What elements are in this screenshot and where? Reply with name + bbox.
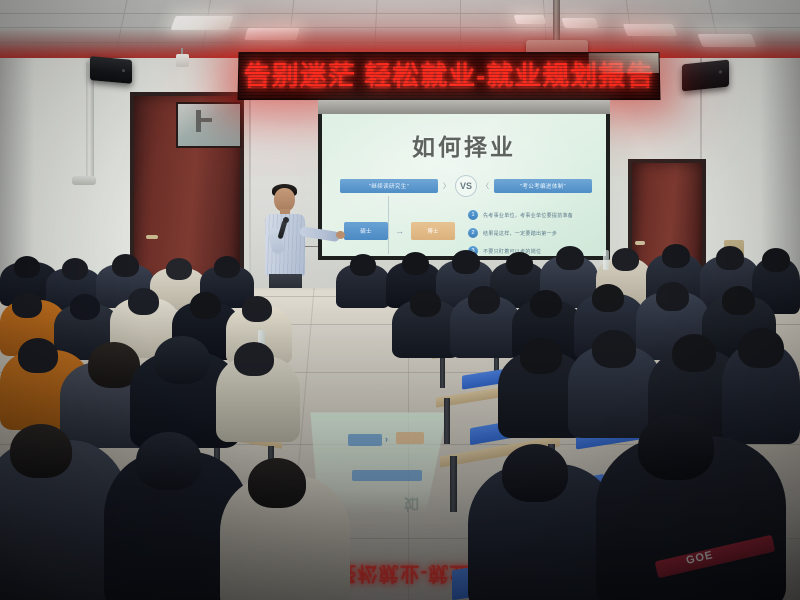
audience-head xyxy=(14,256,40,278)
bullet-text: 先考事业单位，考事业单位要提前准备 xyxy=(483,212,573,219)
audience-head xyxy=(638,414,714,480)
reflection-title-char: 如 xyxy=(404,494,419,515)
slide-progression-row: 硕士 → 博士 xyxy=(344,220,456,242)
wall-speaker-left xyxy=(90,56,132,84)
audience-head xyxy=(468,286,500,314)
water-bottle xyxy=(603,250,609,270)
slide-title: 如何择业 xyxy=(322,128,606,162)
projector-mount-pole xyxy=(553,0,560,42)
wall-sensor xyxy=(176,54,189,67)
progression-from: 硕士 xyxy=(344,222,388,240)
chevron-left-icon: 〈 xyxy=(482,181,489,191)
audience-head xyxy=(112,254,139,277)
audience-head xyxy=(62,258,88,280)
audience-head xyxy=(722,286,755,315)
vs-badge: VS xyxy=(455,175,477,197)
audience-head xyxy=(214,256,240,278)
ceiling-light-panel xyxy=(514,15,547,24)
bullet-number: 1 xyxy=(468,210,478,220)
audience-head xyxy=(716,246,744,270)
reflection-arrow-icon: › xyxy=(385,434,388,444)
bullet-number: 2 xyxy=(468,228,478,238)
chevron-right-icon: 〉 xyxy=(443,181,450,191)
reflection-box-bar xyxy=(352,470,422,481)
presenter xyxy=(252,182,338,292)
wall-speaker-right xyxy=(682,60,729,92)
audience-head xyxy=(656,282,689,311)
audience-head xyxy=(452,250,480,274)
audience-head xyxy=(12,292,42,318)
audience-head xyxy=(402,252,429,275)
reflection-box-blue xyxy=(348,434,382,446)
slide-comparison-row: "继续读研究生" 〉 VS 〈 "考公考编进体制" xyxy=(340,178,592,194)
wall-conduit-elbow xyxy=(72,176,96,185)
audience-head xyxy=(502,444,568,502)
audience-head xyxy=(738,328,784,368)
reflection-box-tan xyxy=(396,432,424,444)
audience-head xyxy=(242,296,272,322)
bullet-text: 结果是这样，一定要踏出第一步 xyxy=(483,230,557,237)
audience-head xyxy=(410,290,441,317)
list-item: 2 结果是这样，一定要踏出第一步 xyxy=(468,228,594,238)
screen-top-bar xyxy=(318,100,610,114)
audience-head xyxy=(154,336,210,384)
presenter-right-arm xyxy=(299,226,340,242)
door-window-mullion xyxy=(196,118,212,122)
compare-option-right: "考公考编进体制" xyxy=(494,179,592,193)
compare-option-left: "继续读研究生" xyxy=(340,179,438,193)
arrow-right-icon: → xyxy=(395,226,404,236)
presentation-slide: 如何择业 "继续读研究生" 〉 VS 〈 "考公考编进体制" 硕士 → 博士 1… xyxy=(322,114,606,256)
lecture-hall-photo: 告别迷茫 轻松就业-就业规划报告 如何择业 "继续读研究生" 〉 VS 〈 "考… xyxy=(0,0,800,600)
ceiling-light-panel xyxy=(561,18,598,28)
audience-head xyxy=(248,458,306,508)
audience-head xyxy=(520,338,562,374)
banner-glare xyxy=(589,53,659,73)
audience-head xyxy=(612,248,639,271)
door-window-left xyxy=(176,102,242,148)
audience-head xyxy=(136,432,202,490)
microphone-head xyxy=(283,217,289,223)
audience-head xyxy=(10,424,72,478)
progression-to: 博士 xyxy=(411,222,455,240)
audience-head xyxy=(592,330,636,368)
audience-head xyxy=(556,246,584,270)
audience-head xyxy=(18,338,58,373)
list-item: 1 先考事业单位，考事业单位要提前准备 xyxy=(468,210,594,220)
led-banner: 告别迷茫 轻松就业-就业规划报告 xyxy=(237,52,660,100)
door-handle-right[interactable] xyxy=(635,241,645,245)
audience-head xyxy=(506,252,533,275)
door-handle-left[interactable] xyxy=(146,235,158,239)
audience-head xyxy=(762,248,790,272)
audience-head xyxy=(672,334,716,372)
audience-head xyxy=(166,258,192,280)
audience-head xyxy=(70,294,100,320)
audience-head xyxy=(234,342,274,376)
audience-head xyxy=(592,284,624,312)
audience-head xyxy=(190,292,221,319)
audience-head xyxy=(128,288,159,315)
audience-head xyxy=(350,254,376,276)
audience-head xyxy=(530,290,562,318)
audience-head xyxy=(662,244,690,268)
projection-screen: 如何择业 "继续读研究生" 〉 VS 〈 "考公考编进体制" 硕士 → 博士 1… xyxy=(318,100,610,260)
